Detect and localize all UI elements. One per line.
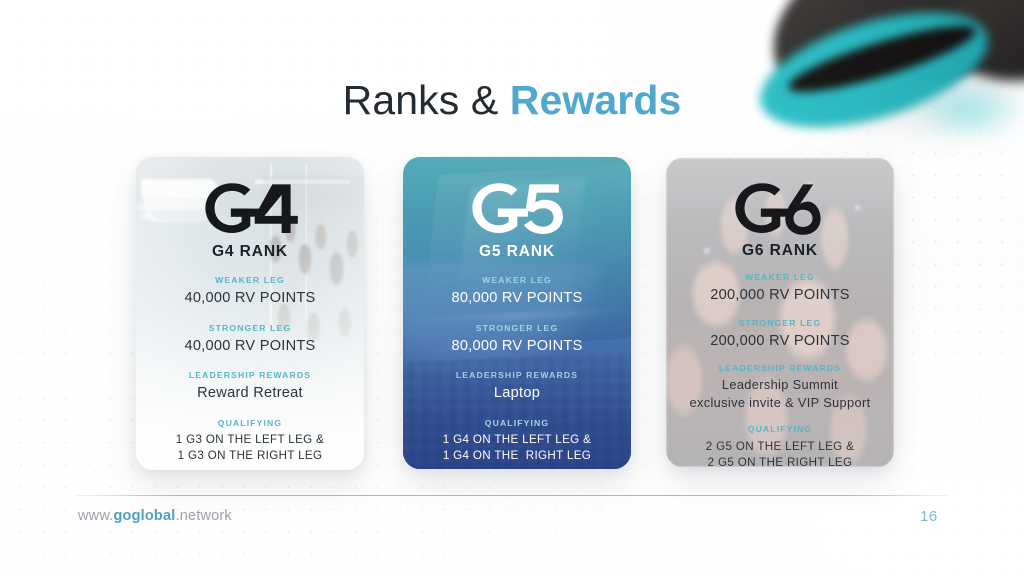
g6-logo-icon: [731, 179, 829, 237]
row-value-line2: 2 G5 ON THE RIGHT LEG: [666, 455, 894, 467]
row-label: QUALIFYING: [666, 424, 894, 434]
row-value-line2: 1 G4 ON THE RIGHT LEG: [403, 448, 631, 463]
row-stronger-leg-g4: STRONGER LEG 40,000 RV POINTS: [136, 323, 364, 357]
row-label: STRONGER LEG: [666, 318, 894, 328]
row-value-line1: 1 G4 ON THE LEFT LEG &: [403, 432, 631, 447]
row-leadership-rewards-g4: LEADERSHIP REWARDS Reward Retreat: [136, 370, 364, 404]
page-title: Ranks & Rewards: [0, 78, 1024, 123]
row-leadership-rewards-g6: LEADERSHIP REWARDS Leadership Summit exc…: [666, 363, 894, 412]
row-leadership-rewards-g5: LEADERSHIP REWARDS Laptop: [403, 370, 631, 404]
row-value-line1: Leadership Summit: [666, 377, 894, 394]
footer-divider: [76, 495, 948, 496]
row-label: STRONGER LEG: [136, 323, 364, 333]
row-weaker-leg-g6: WEAKER LEG 200,000 RV POINTS: [666, 272, 894, 306]
footer-brand: goglobal: [113, 508, 175, 524]
row-value-line2: exclusive invite & VIP Support: [666, 395, 894, 412]
row-qualifying-g5: QUALIFYING 1 G4 ON THE LEFT LEG & 1 G4 O…: [403, 418, 631, 464]
page-title-accent: Rewards: [510, 77, 682, 123]
row-stronger-leg-g6: STRONGER LEG 200,000 RV POINTS: [666, 318, 894, 352]
row-value: Reward Retreat: [136, 384, 364, 403]
row-label: LEADERSHIP REWARDS: [666, 363, 894, 373]
row-label: LEADERSHIP REWARDS: [136, 370, 364, 380]
rank-label-g6: G6 RANK: [742, 242, 818, 260]
row-qualifying-g4: QUALIFYING 1 G3 ON THE LEFT LEG & 1 G3 O…: [136, 418, 364, 464]
row-value: 200,000 RV POINTS: [666, 332, 894, 351]
row-label: STRONGER LEG: [403, 323, 631, 333]
row-label: QUALIFYING: [403, 418, 631, 428]
row-value: 200,000 RV POINTS: [666, 286, 894, 305]
rank-card-g5[interactable]: G5 RANK WEAKER LEG 80,000 RV POINTS STRO…: [403, 157, 631, 469]
row-qualifying-g6: QUALIFYING 2 G5 ON THE LEFT LEG & 2 G5 O…: [666, 424, 894, 467]
row-value: Laptop: [403, 384, 631, 403]
g4-logo-icon: [201, 178, 299, 238]
g5-logo-icon: [468, 178, 566, 238]
rank-label-g5: G5 RANK: [479, 243, 555, 261]
rank-card-g6[interactable]: G6 RANK WEAKER LEG 200,000 RV POINTS STR…: [666, 158, 894, 467]
row-weaker-leg-g5: WEAKER LEG 80,000 RV POINTS: [403, 275, 631, 309]
footer-prefix: www.: [78, 508, 113, 524]
rank-card-g4[interactable]: G4 RANK WEAKER LEG 40,000 RV POINTS STRO…: [136, 157, 364, 470]
row-value: 40,000 RV POINTS: [136, 289, 364, 308]
row-stronger-leg-g5: STRONGER LEG 80,000 RV POINTS: [403, 323, 631, 357]
row-value-line2: 1 G3 ON THE RIGHT LEG: [136, 448, 364, 463]
row-value: 40,000 RV POINTS: [136, 337, 364, 356]
row-value-line1: 1 G3 ON THE LEFT LEG &: [136, 432, 364, 447]
row-value-line1: 2 G5 ON THE LEFT LEG &: [666, 439, 894, 454]
row-label: LEADERSHIP REWARDS: [403, 370, 631, 380]
footer-website[interactable]: www.goglobal.network: [78, 508, 232, 524]
rank-label-g4: G4 RANK: [212, 243, 288, 261]
slide-canvas: Ranks & Rewards G4 RANK WEAKER LEG 40,00…: [0, 0, 1024, 576]
row-label: WEAKER LEG: [666, 272, 894, 282]
row-value: 80,000 RV POINTS: [403, 337, 631, 356]
footer-suffix: .network: [175, 508, 231, 524]
page-title-plain: Ranks &: [343, 77, 510, 123]
row-label: QUALIFYING: [136, 418, 364, 428]
row-label: WEAKER LEG: [136, 275, 364, 285]
page-number: 16: [920, 508, 960, 525]
row-weaker-leg-g4: WEAKER LEG 40,000 RV POINTS: [136, 275, 364, 309]
row-value: 80,000 RV POINTS: [403, 289, 631, 308]
row-label: WEAKER LEG: [403, 275, 631, 285]
